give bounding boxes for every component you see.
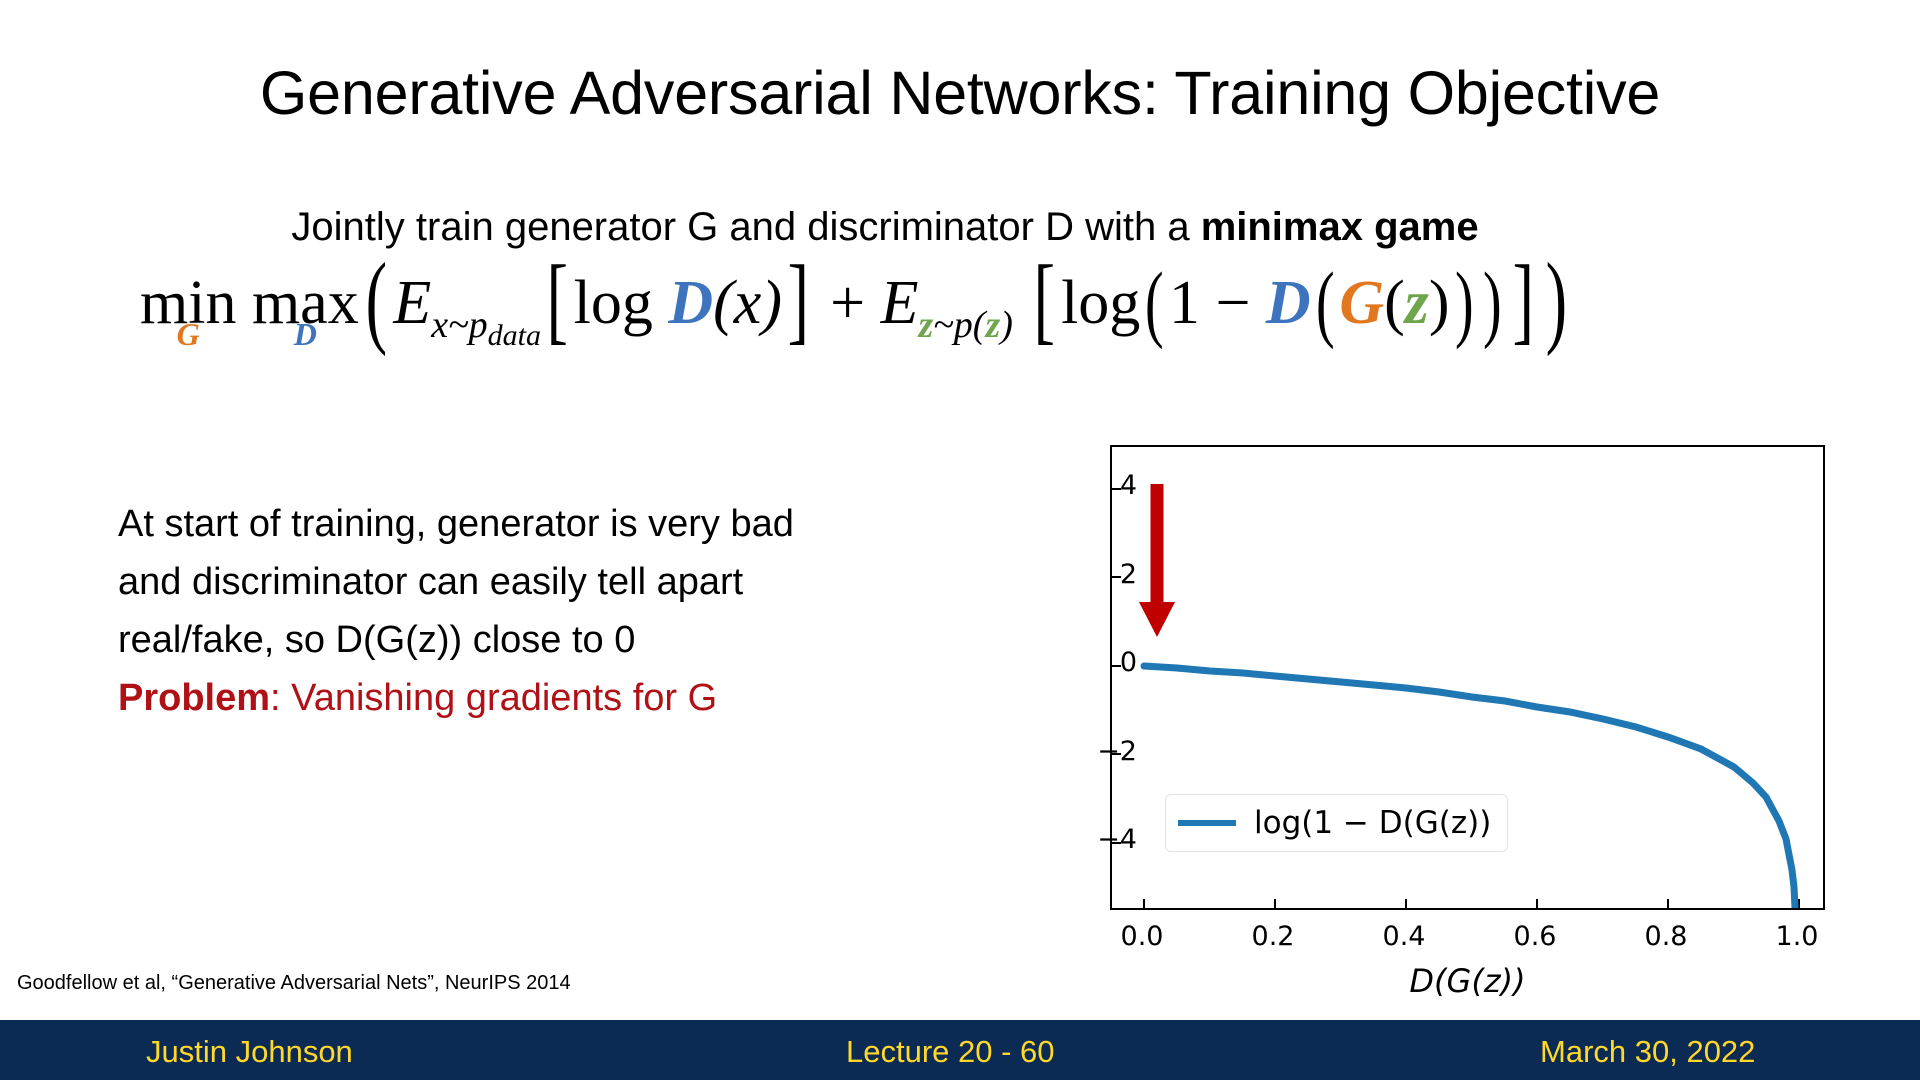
min-operator: minG <box>140 272 236 334</box>
plus-operator: + <box>830 269 865 337</box>
chart-legend: log(1 − D(G(z)) <box>1165 794 1508 852</box>
latent-z: z <box>1405 269 1429 337</box>
x-tick-marks <box>1144 899 1799 908</box>
e1-sub-data: data <box>488 319 541 352</box>
expectation-1-subscript: x~pdata <box>431 304 541 346</box>
expectation-2-subscript: z~p(z) <box>918 304 1012 346</box>
footer-lecture: Lecture 20 - 60 <box>846 1034 1055 1070</box>
discriminator-D-1: D <box>668 269 713 337</box>
e2-sub-close: ) <box>1000 304 1013 346</box>
x-argument: (x) <box>713 269 782 337</box>
minimax-objective-equation: minG maxD(Ex~pdata[log D(x)] + Ez~p(z) [… <box>140 272 1880 334</box>
legend-swatch-log-curve <box>1178 820 1236 826</box>
G-close-paren: ) <box>1429 269 1450 337</box>
minus-operator: − <box>1215 269 1250 337</box>
y-tick-label-4: 4 <box>1047 470 1137 501</box>
explanation-line-2: and discriminator can easily tell apart <box>118 553 938 611</box>
explanation-line-1: At start of training, generator is very … <box>118 495 938 553</box>
e2-sub-z: z <box>918 304 933 346</box>
min-subscript-G: G <box>140 318 236 350</box>
slide-canvas: Generative Adversarial Networks: Trainin… <box>0 0 1920 1080</box>
subtitle-prefix: Jointly train generator G and discrimina… <box>291 205 1200 249</box>
e2-sub-z-arg: z <box>985 304 1000 346</box>
constant-one: 1 <box>1169 269 1200 337</box>
x-tick-label-0-6: 0.6 <box>1490 921 1580 952</box>
y-tick-label-2: 2 <box>1047 559 1137 590</box>
footer-author: Justin Johnson <box>146 1034 353 1070</box>
max-operator: maxD <box>252 272 359 334</box>
log-2: log <box>1061 269 1140 337</box>
e1-sub-main: x~p <box>431 304 487 346</box>
generator-G: G <box>1339 269 1384 337</box>
x-tick-label-0-4: 0.4 <box>1359 921 1449 952</box>
explanation-line-3: real/fake, so D(G(z)) close to 0 <box>118 611 938 669</box>
vanishing-gradient-arrow <box>1139 484 1175 637</box>
x-axis-label: D(G(z)) <box>1110 962 1825 1000</box>
problem-separator: : <box>270 677 291 719</box>
problem-statement: Problem: Vanishing gradients for G <box>118 669 938 727</box>
x-tick-label-0-0: 0.0 <box>1097 921 1187 952</box>
page-title: Generative Adversarial Networks: Trainin… <box>0 58 1920 128</box>
x-tick-label-0-2: 0.2 <box>1228 921 1318 952</box>
subtitle-emphasis: minimax game <box>1201 205 1479 249</box>
max-subscript-D: D <box>252 318 359 350</box>
problem-text: Vanishing gradients for G <box>291 677 717 719</box>
expectation-1: E <box>393 269 431 337</box>
subtitle-line: Jointly train generator G and discrimina… <box>0 205 1770 250</box>
y-tick-label-neg4: −4 <box>1047 824 1137 855</box>
e2-sub-dist: ~p( <box>933 304 985 346</box>
expectation-2: E <box>881 269 919 337</box>
legend-label-log-curve: log(1 − D(G(z)) <box>1254 805 1491 841</box>
citation-reference: Goodfellow et al, “Generative Adversaria… <box>17 972 571 995</box>
y-tick-label-neg2: −2 <box>1047 736 1137 767</box>
log-curve <box>1144 666 1795 908</box>
problem-label: Problem <box>118 677 270 719</box>
footer-date: March 30, 2022 <box>1540 1034 1755 1070</box>
x-tick-label-1-0: 1.0 <box>1752 921 1842 952</box>
vanishing-gradient-chart: log(1 − D(G(z)) 4 2 0 −2 −4 0.0 0.2 0.4 … <box>1085 437 1885 997</box>
explanation-text-block: At start of training, generator is very … <box>118 495 938 727</box>
G-open-paren: ( <box>1384 269 1405 337</box>
plot-area: log(1 − D(G(z)) <box>1110 445 1825 910</box>
y-tick-label-0: 0 <box>1047 647 1137 678</box>
x-tick-label-0-8: 0.8 <box>1621 921 1711 952</box>
slide-footer: Justin Johnson Lecture 20 - 60 March 30,… <box>0 1020 1920 1080</box>
discriminator-D-2: D <box>1266 269 1311 337</box>
log-1: log <box>574 269 653 337</box>
